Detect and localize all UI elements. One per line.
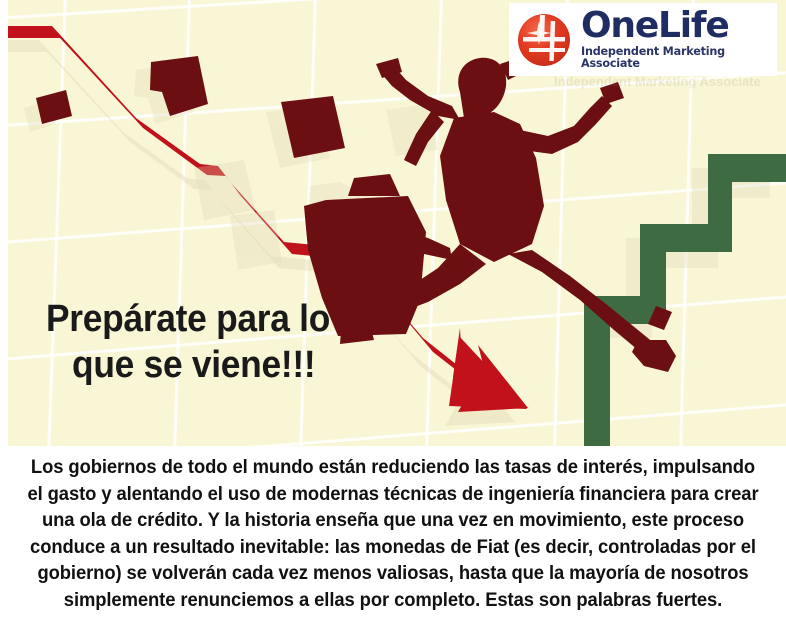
headline-line-2: que se viene!!!: [46, 342, 437, 388]
headline-line-1: Prepárate para lo: [46, 296, 437, 342]
illustration-area: Prepárate para lo que se viene!!! Indepe…: [0, 0, 786, 449]
poster-page: Prepárate para lo que se viene!!! Indepe…: [0, 0, 786, 623]
logo-title: OneLife: [581, 9, 777, 43]
caption-block: Los gobiernos de todo el mundo están red…: [0, 449, 786, 623]
logo-tagline: Independent Marketing Associate: [581, 46, 777, 71]
onelife-logo[interactable]: OneLife Independent Marketing Associate: [509, 3, 777, 76]
caption-text: Los gobiernos de todo el mundo están red…: [23, 455, 762, 614]
logo-wordmark: OneLife Independent Marketing Associate: [581, 9, 777, 71]
red-globe-logo-icon: [515, 11, 573, 69]
logo-ghost-text: Independent Marketing Associate: [554, 74, 784, 90]
flying-papers: [36, 56, 345, 158]
page-title: Prepárate para lo que se viene!!!: [46, 296, 437, 389]
